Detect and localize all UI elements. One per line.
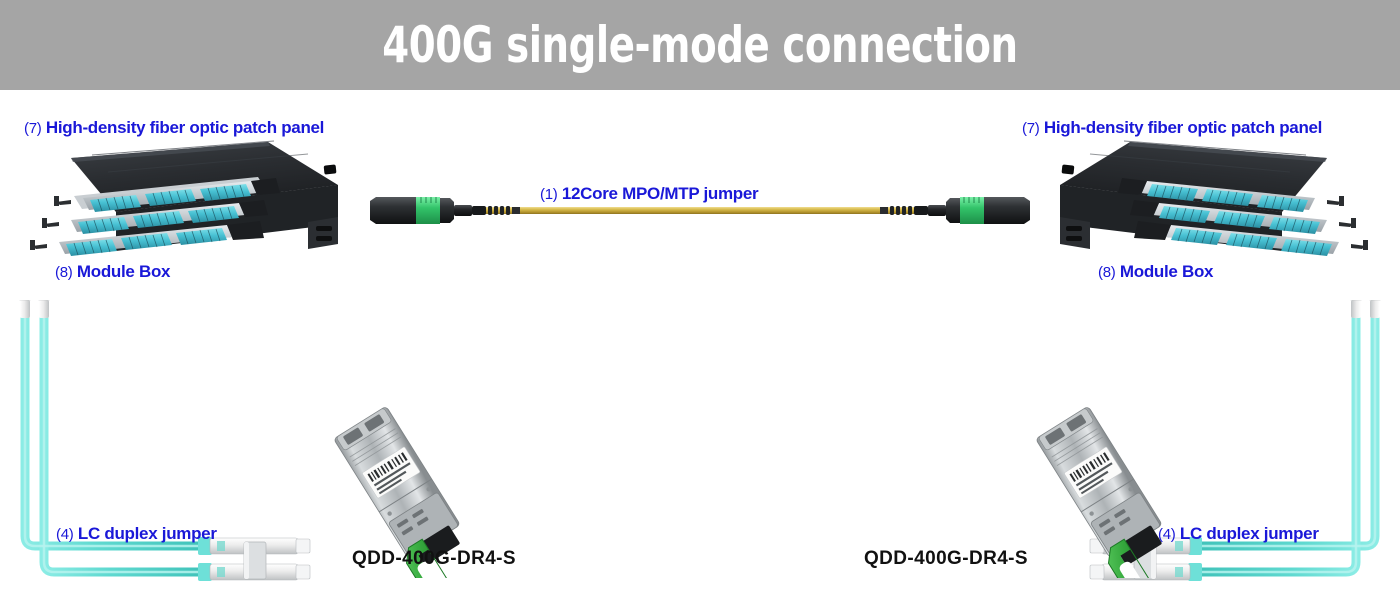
label-number: (4) [56,526,73,543]
label-text: Module Box [1120,262,1213,281]
mpo-connector-left [370,197,520,224]
label-number: (1) [540,186,557,203]
label-lc-jumper-right: (4) LC duplex jumper [1158,524,1319,544]
label-text: High-density fiber optic patch panel [46,118,324,137]
transceiver-right[interactable] [1022,403,1192,578]
label-text: Module Box [77,262,170,281]
label-number: (7) [1022,120,1039,137]
label-transceiver-right: QDD-400G-DR4-S [864,548,1028,570]
lc-connector-vertical-top [1346,300,1385,318]
title-banner: 400G single-mode connection [0,0,1400,90]
module-handle [42,218,59,228]
module-handle [54,196,71,206]
label-mpo-jumper: (1) 12Core MPO/MTP jumper [540,184,758,204]
label-text: High-density fiber optic patch panel [1044,118,1322,137]
label-patch-panel-left: (7) High-density fiber optic patch panel [24,118,324,138]
lc-connector-vertical-top [15,300,54,318]
module-handle [30,240,47,250]
module-handle [1327,196,1344,206]
label-lc-jumper-left: (4) LC duplex jumper [56,524,217,544]
module-handle [1351,240,1368,250]
label-number: (8) [55,264,72,281]
label-text: LC duplex jumper [78,524,217,543]
mpo-cable [464,207,936,214]
module-handle [1339,218,1356,228]
label-module-box-left: (8) Module Box [55,262,170,282]
label-number: (8) [1098,264,1115,281]
lc-duplex-jumper-left[interactable] [0,300,350,605]
page-title: 400G single-mode connection [98,0,1302,90]
label-transceiver-left: QDD-400G-DR4-S [352,548,516,570]
mpo-connector-right [880,197,1030,224]
label-number: (7) [24,120,41,137]
label-text: LC duplex jumper [1180,524,1319,543]
label-patch-panel-right: (7) High-density fiber optic patch panel [1022,118,1322,138]
label-number: (4) [1158,526,1175,543]
label-text: 12Core MPO/MTP jumper [562,184,759,203]
label-module-box-right: (8) Module Box [1098,262,1213,282]
